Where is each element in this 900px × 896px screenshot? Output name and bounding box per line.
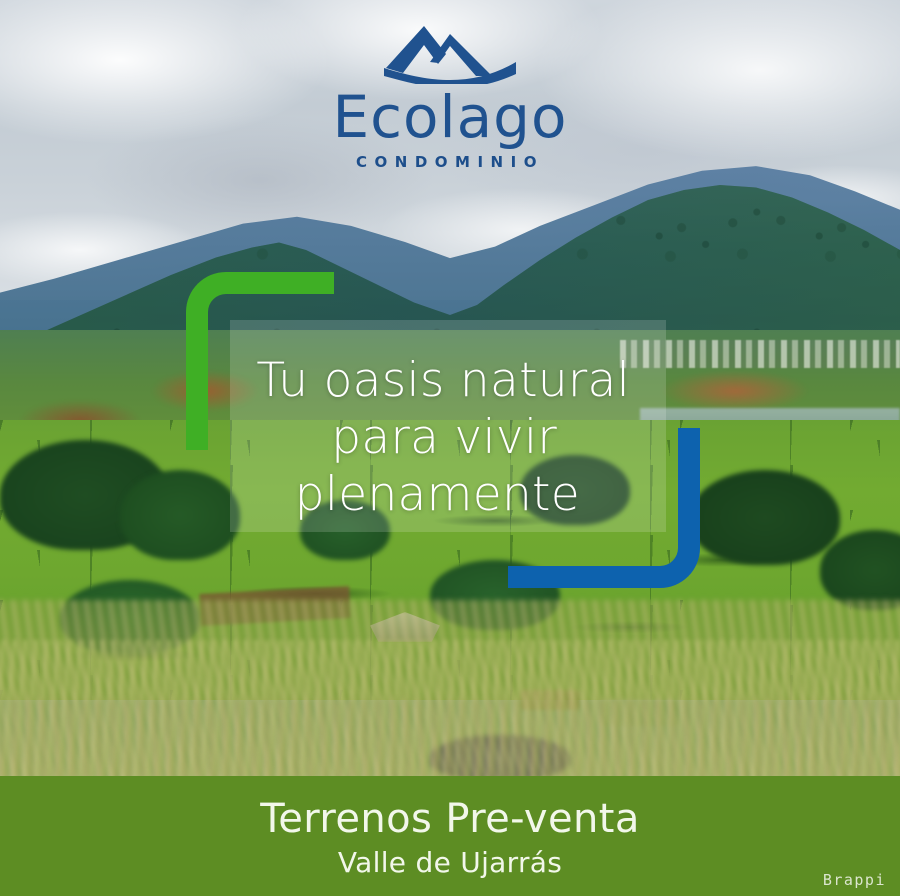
headline-line-3: plenamente — [150, 466, 670, 523]
headline-text: Tu oasis natural para vivir plenamente — [150, 352, 670, 523]
brand-name: Ecolago — [0, 88, 900, 146]
headline-line-2: para vivir — [150, 409, 670, 466]
footer-subtitle: Valle de Ujarrás — [0, 846, 900, 879]
promotional-poster: Ecolago CONDOMINIO Tu oasis natural para… — [0, 0, 900, 896]
brand-tagline: CONDOMINIO — [0, 153, 900, 171]
foreground-grass — [0, 700, 900, 776]
brand-logo: Ecolago CONDOMINIO — [0, 18, 900, 171]
tree-cluster — [690, 470, 840, 565]
footer-bar: Terrenos Pre-venta Valle de Ujarrás Brap… — [0, 776, 900, 896]
watermark-label: Brappi — [823, 871, 886, 889]
footer-title: Terrenos Pre-venta — [0, 796, 900, 842]
headline-line-1: Tu oasis natural — [150, 352, 670, 409]
mountain-wave-icon — [380, 18, 520, 84]
autumn-foliage — [660, 370, 810, 412]
